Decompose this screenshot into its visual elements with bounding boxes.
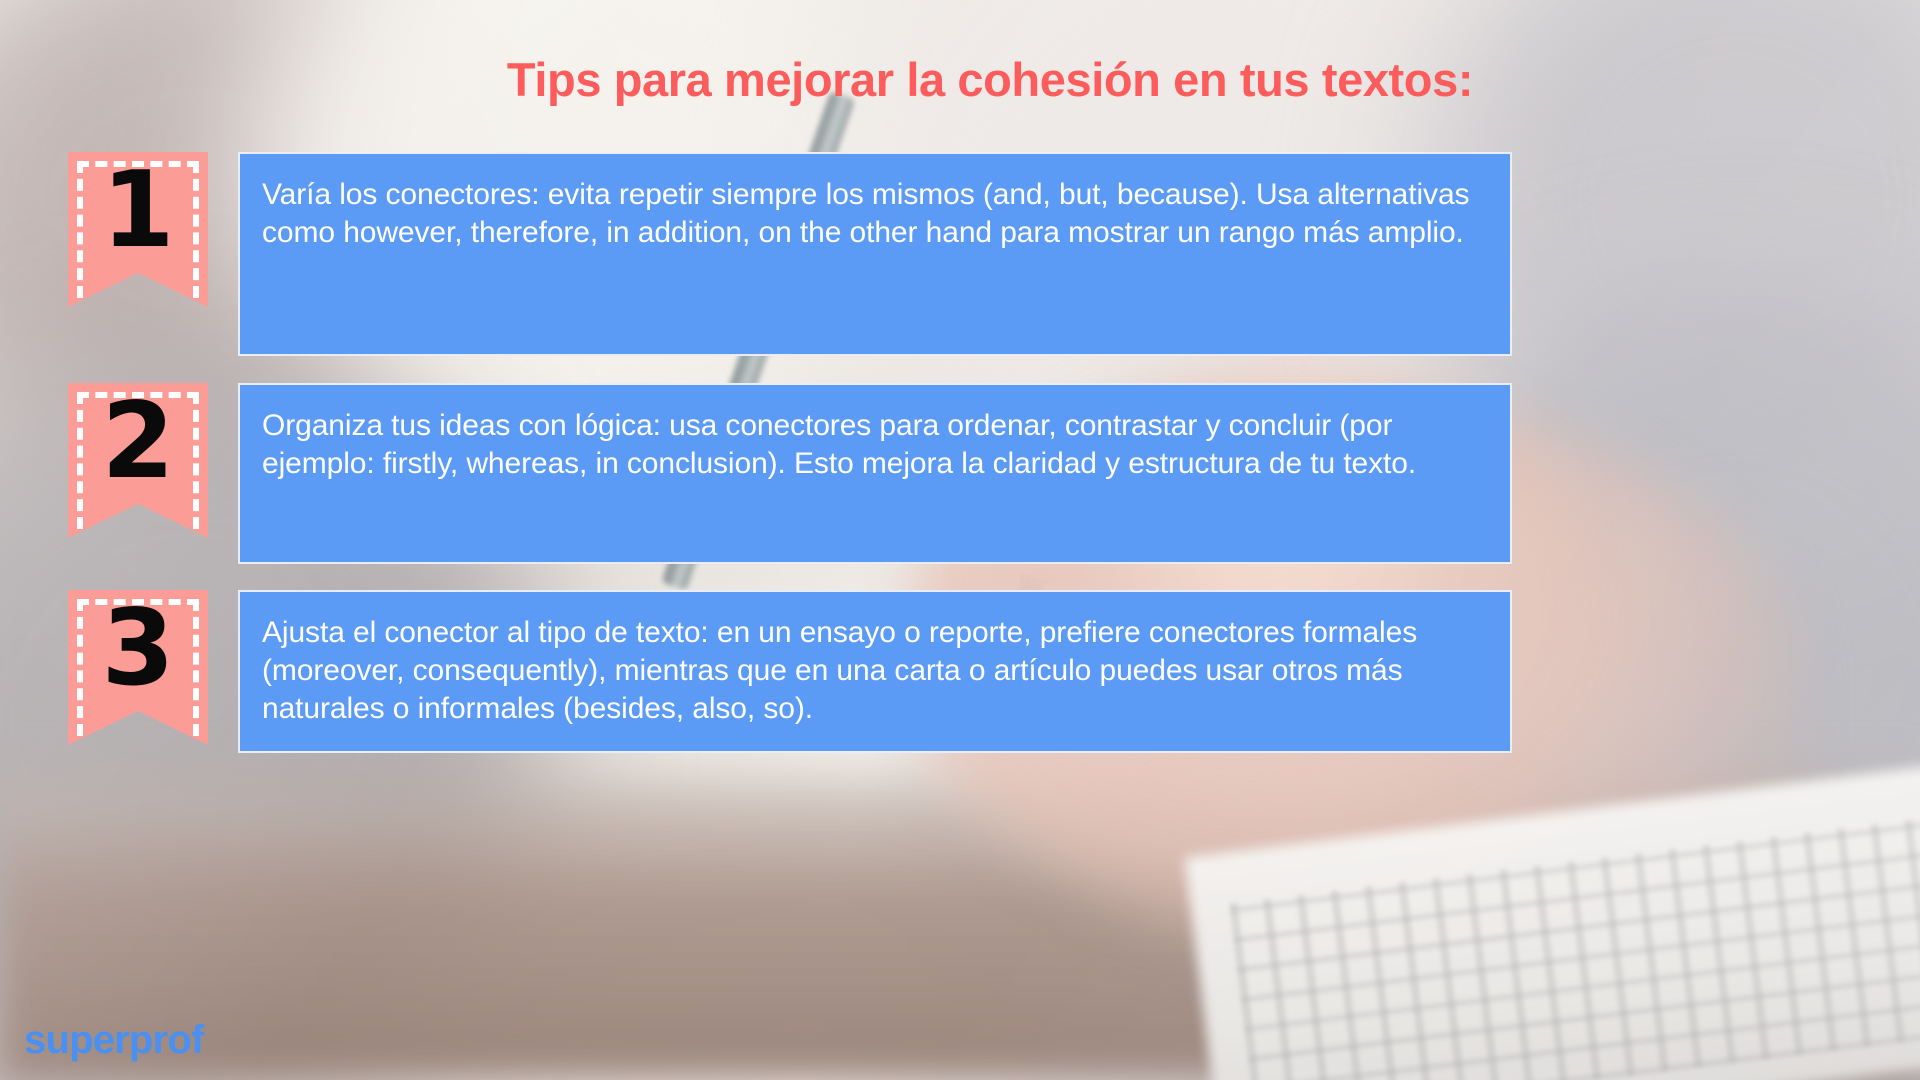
tip-text-box-3: Ajusta el conector al tipo de texto: en …: [238, 590, 1512, 753]
tip-text-box-2: Organiza tus ideas con lógica: usa conec…: [238, 383, 1512, 564]
tip-number-label: 1: [101, 158, 174, 263]
infographic-canvas: Tips para mejorar la cohesión en tus tex…: [0, 0, 1920, 1080]
tip-number-label: 3: [101, 596, 174, 701]
tip-number-badge-1: 1: [68, 152, 208, 307]
tip-text-box-1: Varía los conectores: evita repetir siem…: [238, 152, 1512, 356]
page-title: Tips para mejorar la cohesión en tus tex…: [0, 52, 1920, 107]
superprof-logo[interactable]: superprof: [24, 1018, 203, 1063]
tip-number-badge-2: 2: [68, 383, 208, 538]
tip-number-label: 2: [101, 389, 174, 494]
tip-number-badge-3: 3: [68, 590, 208, 745]
